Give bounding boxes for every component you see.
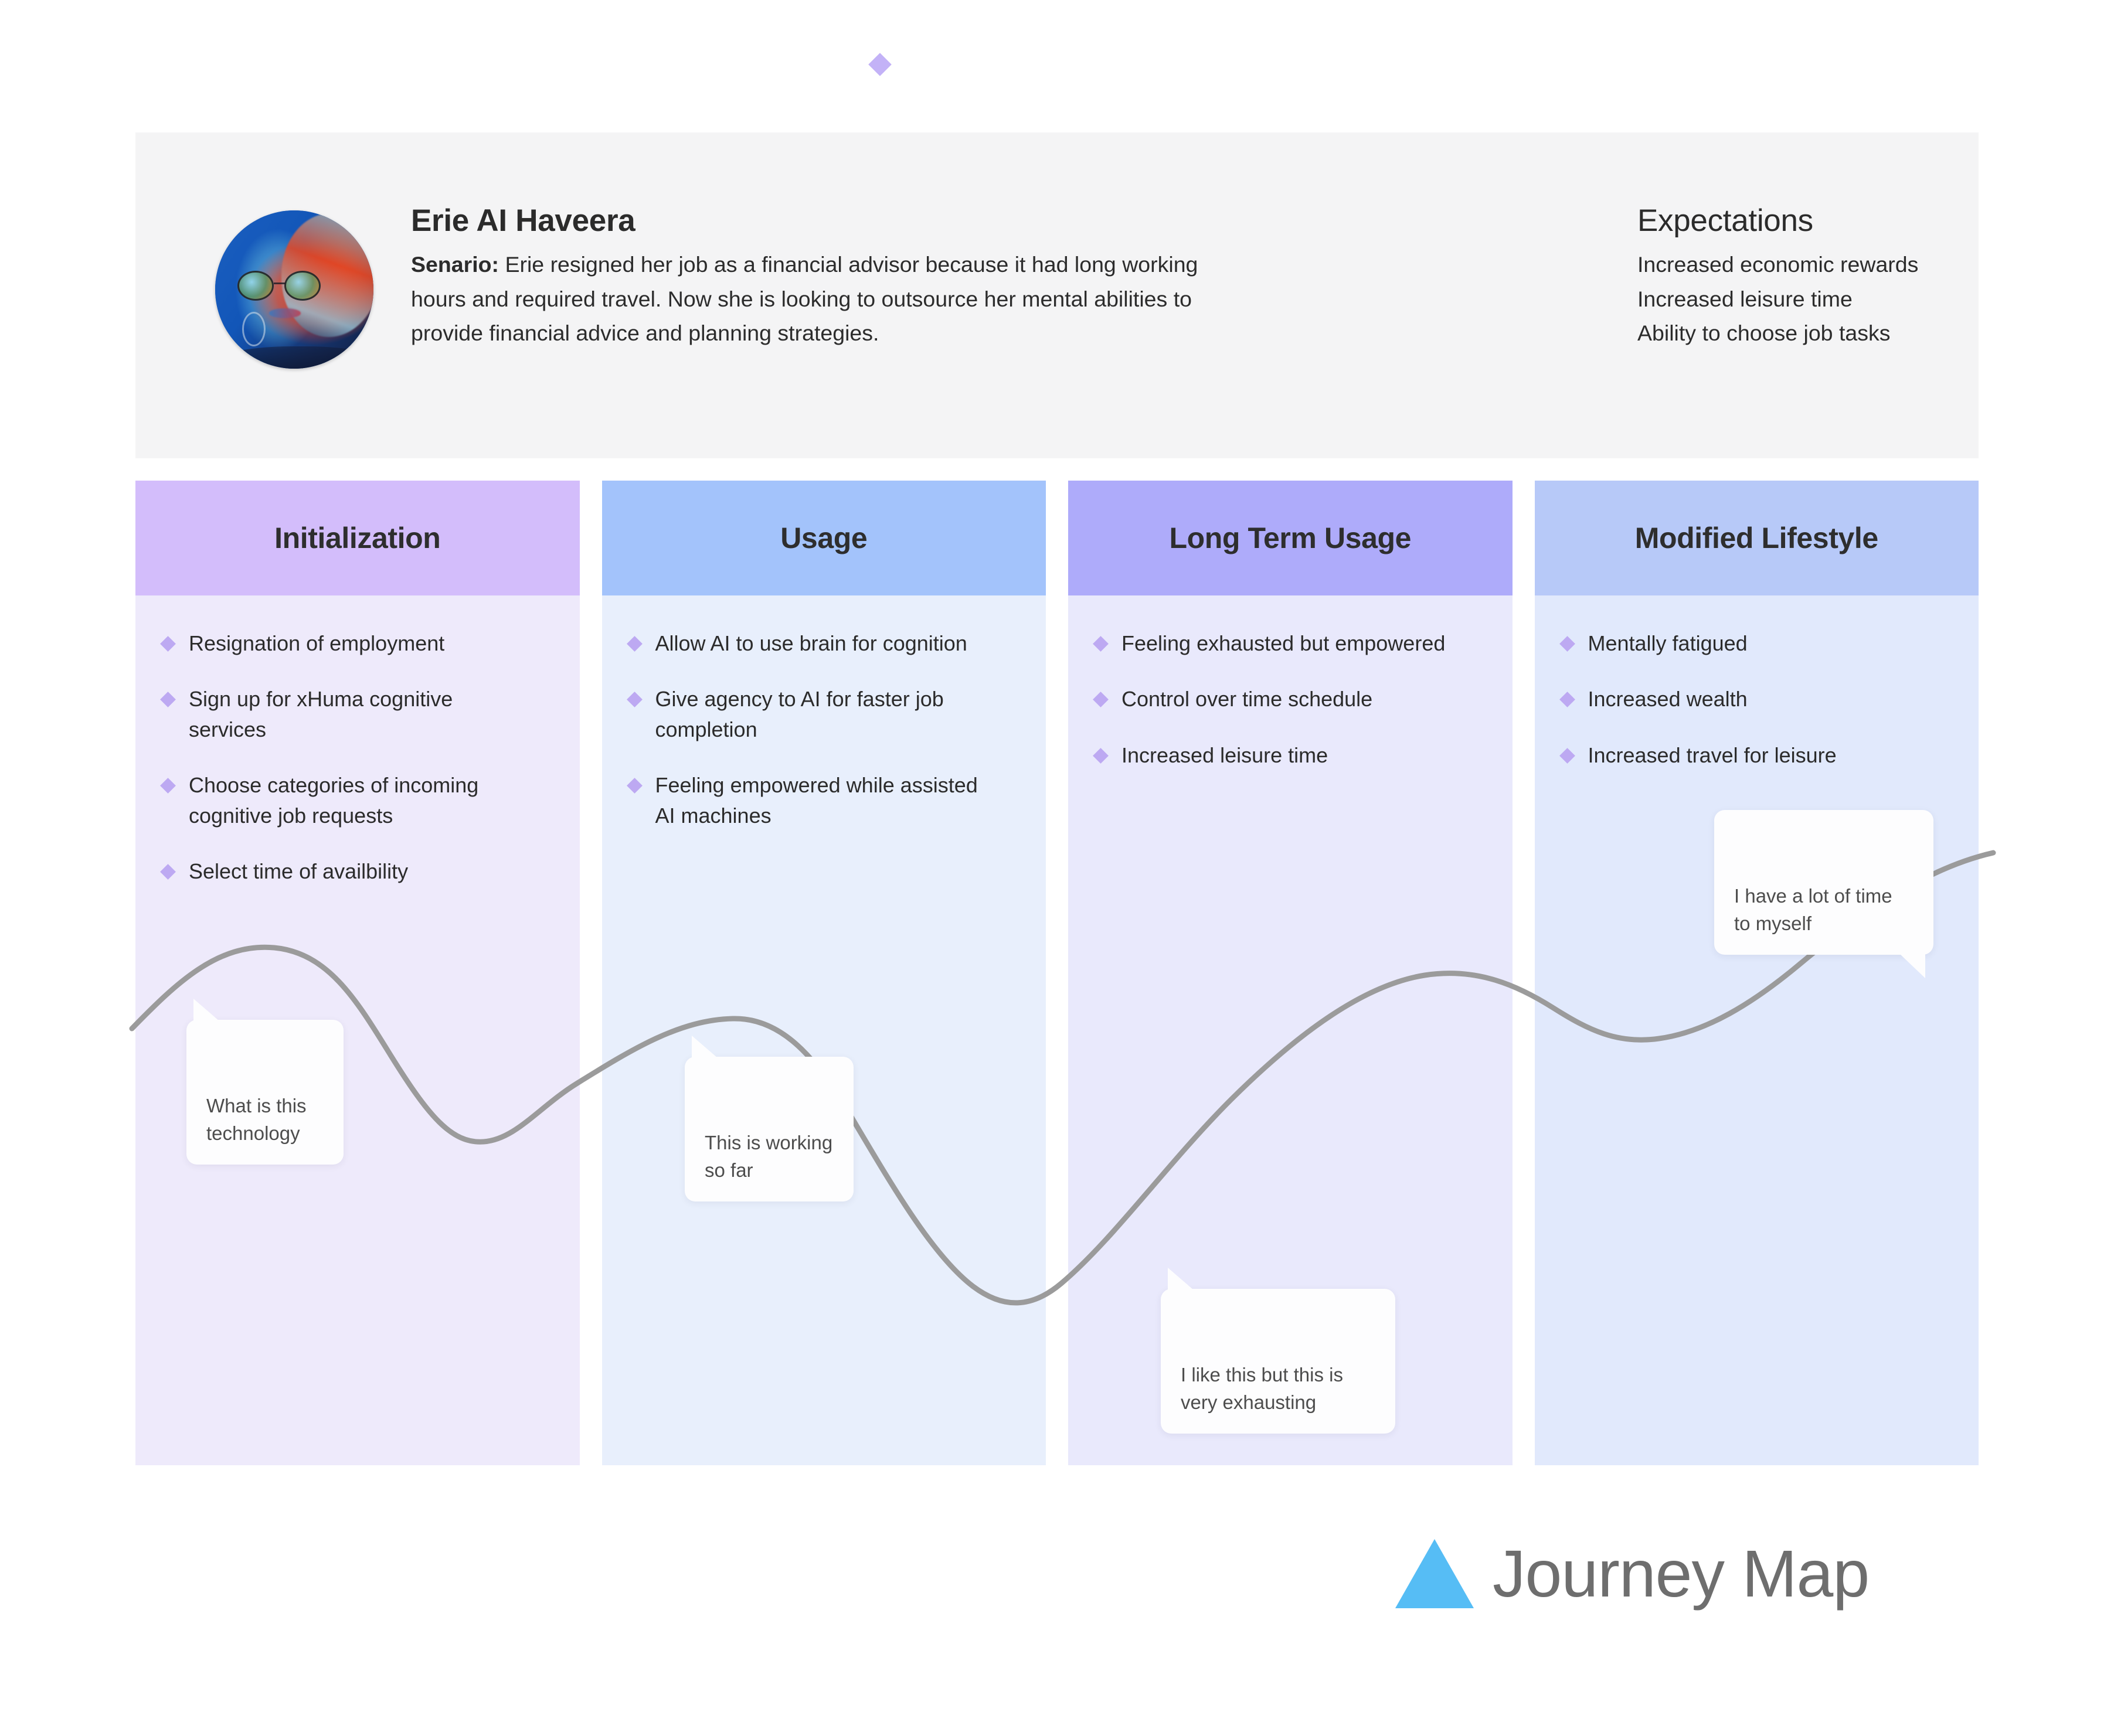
stage-body-modified-lifestyle: Mentally fatigued Increased wealth Incre… [1535, 595, 1979, 1465]
journey-map-logo: Journey Map [1395, 1536, 1869, 1612]
diamond-bullet-icon [160, 636, 176, 652]
bullet-text: Increased travel for leisure [1588, 740, 1837, 770]
list-item: Choose categories of incoming cognitive … [162, 770, 553, 830]
stage-title: Modified Lifestyle [1635, 521, 1878, 555]
expectation-item: Ability to choose job tasks [1637, 316, 1918, 350]
diamond-bullet-icon [627, 636, 643, 652]
list-item: Give agency to AI for faster job complet… [629, 684, 1019, 744]
bullet-text: Control over time schedule [1121, 684, 1372, 714]
stage-header-initialization[interactable]: Initialization [135, 481, 580, 595]
diamond-bullet-icon [160, 864, 176, 880]
callout-bubble-long-term-usage: I like this but this is very exhausting [1161, 1289, 1395, 1434]
list-item: Control over time schedule [1095, 684, 1486, 714]
diamond-bullet-icon [627, 692, 643, 708]
callout-text: What is this technology [206, 1095, 307, 1144]
expectations-list: Increased economic rewards Increased lei… [1637, 247, 1918, 350]
bullet-text: Select time of availbility [189, 856, 408, 886]
persona-avatar [215, 210, 373, 369]
bullet-text: Allow AI to use brain for cognition [655, 628, 967, 658]
list-item: Increased leisure time [1095, 740, 1486, 770]
bullet-text: Feeling empowered while assisted AI mach… [655, 770, 995, 830]
expectation-item: Increased economic rewards [1637, 247, 1918, 282]
list-item: Feeling exhausted but empowered [1095, 628, 1486, 658]
persona-scenario: Senario: Erie resigned her job as a fina… [411, 247, 1243, 350]
stage-header-usage[interactable]: Usage [602, 481, 1046, 595]
diamond-bullet-icon [160, 778, 176, 794]
expectations-title: Expectations [1637, 203, 1813, 239]
diamond-bullet-icon [1093, 692, 1109, 708]
list-item: Increased wealth [1562, 684, 1952, 714]
callout-bubble-initialization: What is this technology [186, 1020, 344, 1165]
list-item: Allow AI to use brain for cognition [629, 628, 1019, 658]
bubble-tail-icon [1168, 1268, 1194, 1290]
list-item: Mentally fatigued [1562, 628, 1952, 658]
avatar-lens-left [237, 271, 274, 301]
bullet-text: Mentally fatigued [1588, 628, 1748, 658]
bullet-text: Increased leisure time [1121, 740, 1328, 770]
diamond-bullet-icon [1559, 748, 1575, 764]
logo-text: Journey Map [1493, 1536, 1869, 1612]
stage-title: Initialization [274, 521, 440, 555]
bullet-text: Choose categories of incoming cognitive … [189, 770, 529, 830]
expectation-item: Increased leisure time [1637, 282, 1918, 316]
stage-header-modified-lifestyle[interactable]: Modified Lifestyle [1535, 481, 1979, 595]
diamond-bullet-icon [1559, 636, 1575, 652]
diamond-bullet-icon [627, 778, 643, 794]
bullet-text: Give agency to AI for faster job complet… [655, 684, 995, 744]
list-item: Resignation of employment [162, 628, 553, 658]
stage-column-usage: Usage Allow AI to use brain for cognitio… [602, 481, 1046, 1465]
triangle-logo-icon [1395, 1539, 1474, 1608]
diamond-bullet-icon [1093, 636, 1109, 652]
list-item: Increased travel for leisure [1562, 740, 1952, 770]
stage-body-usage: Allow AI to use brain for cognition Give… [602, 595, 1046, 1465]
list-item: Select time of availbility [162, 856, 553, 886]
diamond-bullet-icon [1093, 748, 1109, 764]
list-item: Feeling empowered while assisted AI mach… [629, 770, 1019, 830]
bullet-text: Sign up for xHuma cognitive services [189, 684, 529, 744]
callout-text: I like this but this is very exhausting [1181, 1364, 1343, 1413]
bullet-text: Increased wealth [1588, 684, 1748, 714]
stage-title: Long Term Usage [1169, 521, 1411, 555]
stage-title: Usage [780, 521, 867, 555]
stage-header-long-term-usage[interactable]: Long Term Usage [1068, 481, 1513, 595]
avatar-sunglasses-icon [237, 271, 355, 301]
callout-bubble-usage: This is working so far [685, 1057, 854, 1201]
stage-column-initialization: Initialization Resignation of employment… [135, 481, 580, 1465]
bullet-text: Resignation of employment [189, 628, 444, 658]
list-item: Sign up for xHuma cognitive services [162, 684, 553, 744]
persona-header-panel: Erie AI Haveera Senario: Erie resigned h… [135, 132, 1979, 458]
avatar-lips [269, 308, 301, 318]
bullet-text: Feeling exhausted but empowered [1121, 628, 1445, 658]
diamond-bullet-icon [160, 692, 176, 708]
callout-bubble-modified-lifestyle: I have a lot of time to myself [1714, 810, 1933, 955]
bubble-tail-icon [1899, 954, 1925, 978]
decorative-diamond-icon [868, 53, 892, 76]
diamond-bullet-icon [1559, 692, 1575, 708]
persona-name: Erie AI Haveera [411, 203, 635, 239]
avatar-glasses-bridge [274, 282, 286, 284]
callout-text: I have a lot of time to myself [1734, 885, 1892, 934]
callout-text: This is working so far [705, 1132, 832, 1181]
bubble-tail-icon [692, 1036, 718, 1058]
journey-stage-columns: Initialization Resignation of employment… [135, 481, 1979, 1465]
avatar-lens-right [284, 271, 321, 301]
persona-scenario-label: Senario: [411, 252, 499, 277]
bubble-tail-icon [193, 999, 219, 1021]
persona-scenario-text: Erie resigned her job as a financial adv… [411, 252, 1198, 345]
